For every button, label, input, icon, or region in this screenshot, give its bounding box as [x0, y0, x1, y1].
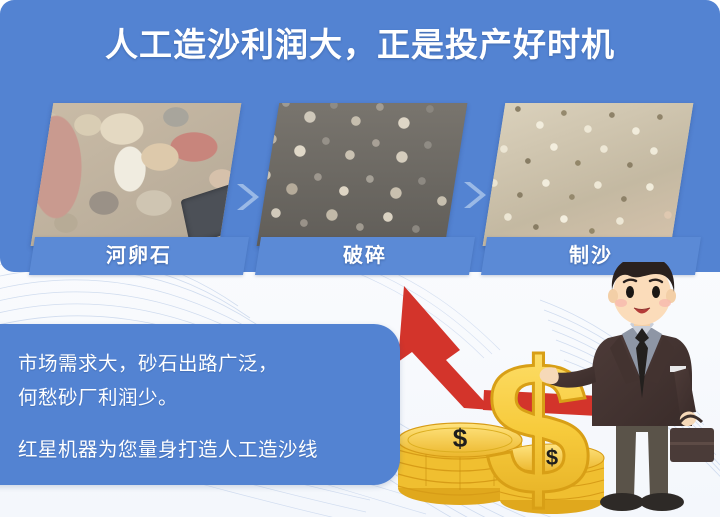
process-card-1: [31, 103, 242, 246]
river-pebbles-photo: [31, 103, 242, 246]
manufactured-sand-photo: [483, 103, 694, 246]
message-panel: 市场需求大，砂石出路广泛， 何愁砂厂利润少。 红星机器为您量身打造人工造沙线: [0, 324, 400, 485]
message-line-1: 市场需求大，砂石出路广泛，: [18, 347, 278, 376]
page-title: 人工造沙利润大，正是投产好时机: [0, 22, 720, 68]
dollar-sign-large: $: [485, 323, 591, 517]
message-line-3: 红星机器为您量身打造人工造沙线: [18, 433, 318, 462]
profit-illustration: $ $ $: [380, 262, 720, 517]
process-label-1-text: 河卵石: [32, 237, 246, 275]
coin-dollar-glyph: $: [453, 423, 468, 453]
process-card-3: [483, 103, 694, 246]
chevron-right-icon: [231, 180, 265, 214]
chevron-right-icon: [458, 178, 492, 212]
poster-root: 人工造沙利润大，正是投产好时机 河卵石 破碎 制沙: [0, 0, 720, 517]
crushed-gravel-photo: [257, 103, 468, 246]
svg-text:$: $: [485, 323, 591, 517]
process-label-1: 河卵石: [29, 237, 249, 275]
process-card-2: [257, 103, 468, 246]
message-line-2: 何愁砂厂利润少。: [18, 381, 178, 410]
